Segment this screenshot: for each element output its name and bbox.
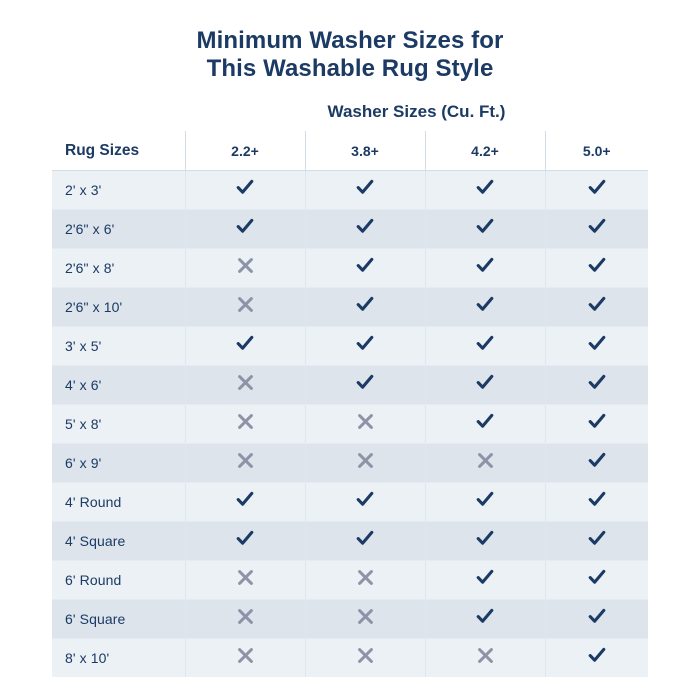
check-icon — [235, 178, 255, 198]
check-icon — [475, 529, 495, 549]
cell-compatible — [305, 522, 425, 561]
cross-icon — [236, 451, 255, 470]
check-icon — [235, 334, 255, 354]
check-icon — [587, 568, 607, 588]
cell-compatible — [545, 444, 648, 483]
cross-icon — [236, 295, 255, 314]
rug-size-label: 6' Square — [52, 600, 185, 639]
cell-compatible — [185, 522, 305, 561]
rug-size-label: 2'6" x 6' — [52, 210, 185, 249]
page-title-line-2: This Washable Rug Style — [0, 55, 700, 83]
rug-size-label: 4' Round — [52, 483, 185, 522]
check-icon — [475, 217, 495, 237]
check-icon — [355, 334, 375, 354]
check-icon — [235, 529, 255, 549]
check-icon — [475, 295, 495, 315]
cell-compatible — [545, 483, 648, 522]
check-icon — [475, 568, 495, 588]
cell-compatible — [425, 366, 545, 405]
cell-incompatible — [185, 366, 305, 405]
rug-size-label: 8' x 10' — [52, 639, 185, 678]
cross-icon — [236, 607, 255, 626]
cell-compatible — [545, 249, 648, 288]
cross-icon — [356, 607, 375, 626]
cell-compatible — [545, 288, 648, 327]
cell-compatible — [545, 639, 648, 678]
check-icon — [475, 490, 495, 510]
table-row: 4' Square — [52, 522, 648, 561]
check-icon — [587, 451, 607, 471]
cell-incompatible — [185, 444, 305, 483]
table-row: 2' x 3' — [52, 171, 648, 210]
cross-icon — [356, 412, 375, 431]
cell-compatible — [545, 405, 648, 444]
cell-compatible — [545, 600, 648, 639]
check-icon — [235, 217, 255, 237]
check-icon — [235, 490, 255, 510]
washer-size-chart: Minimum Washer Sizes for This Washable R… — [0, 0, 700, 700]
check-icon — [587, 217, 607, 237]
table-row: 2'6" x 6' — [52, 210, 648, 249]
rug-size-label: 6' x 9' — [52, 444, 185, 483]
cell-compatible — [425, 483, 545, 522]
cell-compatible — [305, 327, 425, 366]
cross-icon — [476, 646, 495, 665]
rug-size-label: 4' Square — [52, 522, 185, 561]
table-row: 6' Round — [52, 561, 648, 600]
cross-icon — [236, 412, 255, 431]
check-icon — [587, 295, 607, 315]
column-header-washer-3: 5.0+ — [545, 131, 648, 171]
cell-compatible — [425, 288, 545, 327]
check-icon — [475, 256, 495, 276]
cell-compatible — [545, 561, 648, 600]
cell-compatible — [305, 210, 425, 249]
table-body: 2' x 3'2'6" x 6'2'6" x 8'2'6" x 10'3' x … — [52, 171, 648, 678]
cell-compatible — [425, 327, 545, 366]
cell-compatible — [305, 249, 425, 288]
table-row: 2'6" x 8' — [52, 249, 648, 288]
column-header-rug-sizes: Rug Sizes — [52, 131, 185, 171]
check-icon — [475, 412, 495, 432]
cell-incompatible — [425, 444, 545, 483]
cell-compatible — [305, 483, 425, 522]
table-header-row: Rug Sizes 2.2+ 3.8+ 4.2+ 5.0+ — [52, 131, 648, 171]
check-icon — [355, 529, 375, 549]
cell-incompatible — [185, 639, 305, 678]
cell-incompatible — [425, 639, 545, 678]
cell-compatible — [545, 327, 648, 366]
cell-compatible — [425, 249, 545, 288]
cross-icon — [236, 568, 255, 587]
cell-compatible — [185, 171, 305, 210]
cell-compatible — [425, 561, 545, 600]
table-row: 6' x 9' — [52, 444, 648, 483]
cell-incompatible — [185, 249, 305, 288]
cell-incompatible — [305, 639, 425, 678]
cell-compatible — [305, 288, 425, 327]
page-title: Minimum Washer Sizes for This Washable R… — [0, 0, 700, 83]
check-icon — [475, 607, 495, 627]
compatibility-table: Rug Sizes 2.2+ 3.8+ 4.2+ 5.0+ 2' x 3'2'6… — [52, 131, 648, 677]
rug-size-label: 3' x 5' — [52, 327, 185, 366]
check-icon — [475, 178, 495, 198]
washer-sizes-subtitle: Washer Sizes (Cu. Ft.) — [185, 102, 648, 122]
check-icon — [587, 256, 607, 276]
check-icon — [587, 412, 607, 432]
cell-compatible — [425, 171, 545, 210]
cell-incompatible — [185, 405, 305, 444]
cell-compatible — [425, 210, 545, 249]
check-icon — [475, 334, 495, 354]
cross-icon — [236, 256, 255, 275]
table-row: 3' x 5' — [52, 327, 648, 366]
cell-compatible — [545, 366, 648, 405]
rug-size-label: 6' Round — [52, 561, 185, 600]
cell-compatible — [425, 522, 545, 561]
cell-incompatible — [185, 600, 305, 639]
cross-icon — [356, 568, 375, 587]
cross-icon — [356, 451, 375, 470]
table-row: 4' Round — [52, 483, 648, 522]
table-row: 4' x 6' — [52, 366, 648, 405]
cell-incompatible — [305, 444, 425, 483]
cross-icon — [356, 646, 375, 665]
table-row: 8' x 10' — [52, 639, 648, 678]
rug-size-label: 5' x 8' — [52, 405, 185, 444]
check-icon — [587, 178, 607, 198]
cell-incompatible — [305, 561, 425, 600]
rug-size-label: 2'6" x 10' — [52, 288, 185, 327]
page-title-line-1: Minimum Washer Sizes for — [0, 27, 700, 55]
cell-incompatible — [305, 600, 425, 639]
cell-compatible — [425, 405, 545, 444]
cell-incompatible — [185, 561, 305, 600]
check-icon — [587, 646, 607, 666]
cell-compatible — [425, 600, 545, 639]
table-row: 5' x 8' — [52, 405, 648, 444]
cell-incompatible — [305, 405, 425, 444]
cross-icon — [236, 646, 255, 665]
table-row: 6' Square — [52, 600, 648, 639]
check-icon — [355, 295, 375, 315]
rug-size-label: 2' x 3' — [52, 171, 185, 210]
check-icon — [587, 373, 607, 393]
check-icon — [587, 607, 607, 627]
check-icon — [475, 373, 495, 393]
cell-compatible — [185, 210, 305, 249]
check-icon — [355, 178, 375, 198]
cell-compatible — [305, 366, 425, 405]
check-icon — [355, 490, 375, 510]
compatibility-table-wrapper: Rug Sizes 2.2+ 3.8+ 4.2+ 5.0+ 2' x 3'2'6… — [52, 131, 648, 677]
check-icon — [355, 256, 375, 276]
column-header-washer-0: 2.2+ — [185, 131, 305, 171]
check-icon — [587, 490, 607, 510]
check-icon — [355, 373, 375, 393]
rug-size-label: 2'6" x 8' — [52, 249, 185, 288]
cross-icon — [476, 451, 495, 470]
table-header: Rug Sizes 2.2+ 3.8+ 4.2+ 5.0+ — [52, 131, 648, 171]
check-icon — [355, 217, 375, 237]
cell-compatible — [305, 171, 425, 210]
table-row: 2'6" x 10' — [52, 288, 648, 327]
check-icon — [587, 334, 607, 354]
cell-compatible — [545, 522, 648, 561]
cell-compatible — [545, 171, 648, 210]
cross-icon — [236, 373, 255, 392]
check-icon — [587, 529, 607, 549]
cell-compatible — [545, 210, 648, 249]
cell-compatible — [185, 327, 305, 366]
cell-compatible — [185, 483, 305, 522]
cell-incompatible — [185, 288, 305, 327]
column-header-washer-2: 4.2+ — [425, 131, 545, 171]
column-header-washer-1: 3.8+ — [305, 131, 425, 171]
rug-size-label: 4' x 6' — [52, 366, 185, 405]
